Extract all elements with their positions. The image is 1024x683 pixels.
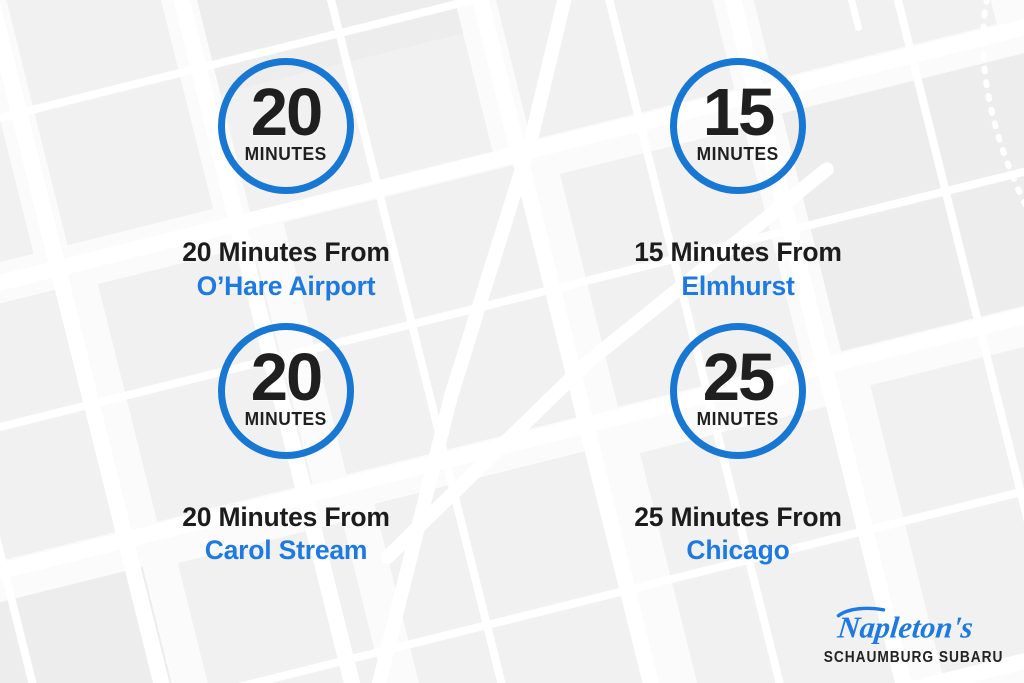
caption-destination: Elmhurst [634, 270, 842, 304]
napletons-logo[interactable]: Napleton's SCHAUMBURG SUBARU [810, 603, 1006, 667]
badge-unit-label: MINUTES [697, 410, 779, 429]
logo-subtitle: SCHAUMBURG SUBARU [824, 649, 993, 667]
drive-time-card-chicago: 25 MINUTES 25 Minutes From Chicago [512, 323, 964, 588]
caption-primary: 20 Minutes From [182, 236, 390, 270]
badge-unit-label: MINUTES [245, 145, 327, 164]
badge-number: 15 [703, 84, 774, 143]
card-caption: 25 Minutes From Chicago [634, 501, 842, 569]
drive-time-card-elmhurst: 15 MINUTES 15 Minutes From Elmhurst [512, 58, 964, 323]
caption-primary: 25 Minutes From [634, 501, 842, 535]
caption-primary: 15 Minutes From [634, 236, 842, 270]
caption-destination: O’Hare Airport [182, 270, 390, 304]
badge-number: 20 [251, 84, 322, 143]
drive-time-card-ohare-airport: 20 MINUTES 20 Minutes From O’Hare Airpor… [60, 58, 512, 323]
logo-script-text: Napleton's [835, 610, 974, 644]
caption-destination: Chicago [634, 534, 842, 568]
caption-primary: 20 Minutes From [182, 501, 390, 535]
minutes-badge: 20 MINUTES [218, 323, 354, 459]
badge-number: 20 [251, 349, 322, 408]
drive-time-card-carol-stream: 20 MINUTES 20 Minutes From Carol Stream [60, 323, 512, 588]
drive-time-grid: 20 MINUTES 20 Minutes From O’Hare Airpor… [0, 0, 1024, 683]
badge-number: 25 [703, 349, 774, 408]
badge-unit-label: MINUTES [245, 410, 327, 429]
caption-destination: Carol Stream [182, 534, 390, 568]
card-caption: 20 Minutes From O’Hare Airport [182, 236, 390, 304]
drive-times-infographic: 20 MINUTES 20 Minutes From O’Hare Airpor… [0, 0, 1024, 683]
napletons-script-wordmark: Napleton's [810, 603, 1006, 650]
card-caption: 20 Minutes From Carol Stream [182, 501, 390, 569]
minutes-badge: 20 MINUTES [218, 58, 354, 194]
card-caption: 15 Minutes From Elmhurst [634, 236, 842, 304]
minutes-badge: 25 MINUTES [670, 323, 806, 459]
minutes-badge: 15 MINUTES [670, 58, 806, 194]
badge-unit-label: MINUTES [697, 145, 779, 164]
